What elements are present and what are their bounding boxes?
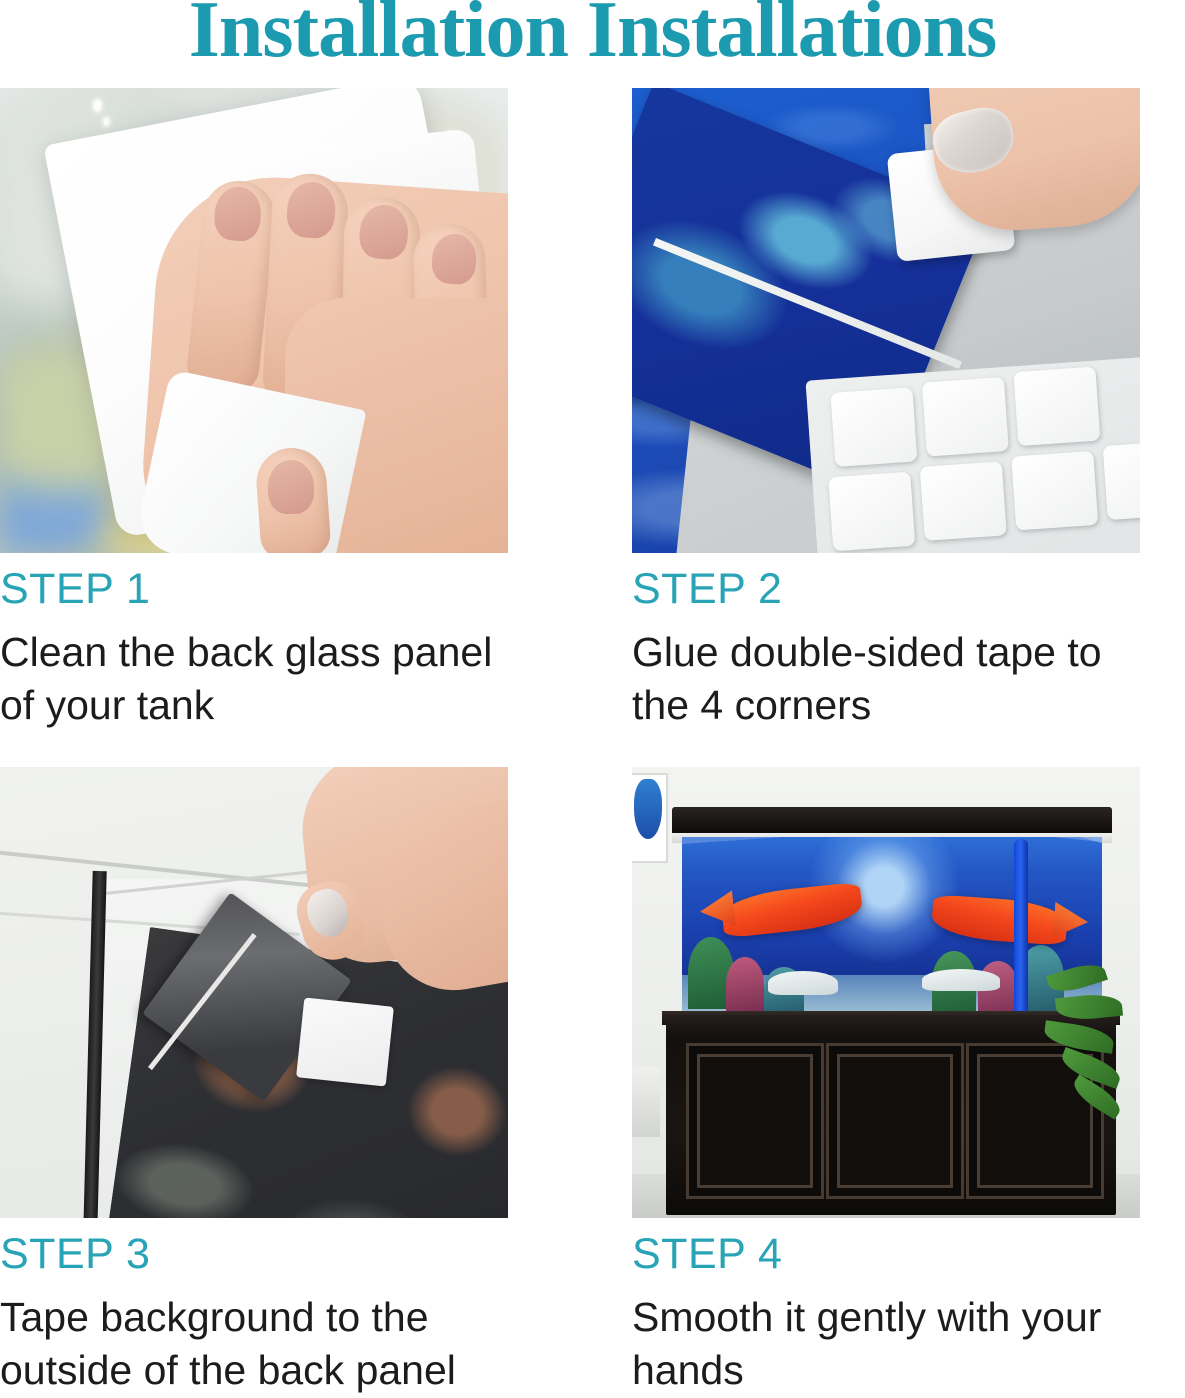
blue-heater-tube: [1014, 839, 1028, 1027]
step-3-photo: [0, 767, 508, 1218]
step-card-4: STEP 4 Smooth it gently with your hands: [632, 767, 1140, 1396]
step-1-label: STEP 1: [0, 567, 508, 612]
step-1-photo: [0, 88, 508, 553]
side-object: [632, 1067, 660, 1137]
step-2-photo: [632, 88, 1140, 553]
step-card-2: STEP 2 Glue double-sided tape to the 4 c…: [632, 88, 1140, 731]
rock: [768, 971, 838, 995]
wall-picture-frame: [632, 773, 668, 863]
cabinet-door: [826, 1043, 964, 1199]
step-4-label: STEP 4: [632, 1232, 1140, 1277]
step-4-description: Smooth it gently with your hands: [632, 1291, 1140, 1396]
rock: [922, 969, 1000, 991]
coral-plant: [726, 957, 764, 1011]
step-2-description: Glue double-sided tape to the 4 corners: [632, 626, 1140, 731]
step-2-label: STEP 2: [632, 567, 1140, 612]
step-card-3: STEP 3 Tape background to the outside of…: [0, 767, 508, 1396]
page-title: Installation Installations: [0, 0, 1185, 70]
aquarium-hood: [672, 807, 1112, 835]
house-plant: [1030, 967, 1140, 1127]
thumb-nail: [268, 460, 314, 514]
step-4-photo: [632, 767, 1140, 1218]
double-sided-tape-sheet: [805, 356, 1140, 553]
installation-steps-grid: STEP 1 Clean the back glass panel of you…: [0, 0, 1185, 1398]
step-3-label: STEP 3: [0, 1232, 508, 1277]
step-card-1: STEP 1 Clean the back glass panel of you…: [0, 88, 508, 731]
step-3-description: Tape background to the outside of the ba…: [0, 1291, 508, 1396]
cabinet-door: [686, 1043, 824, 1199]
tape-square: [296, 998, 394, 1087]
step-1-description: Clean the back glass panel of your tank: [0, 626, 508, 731]
